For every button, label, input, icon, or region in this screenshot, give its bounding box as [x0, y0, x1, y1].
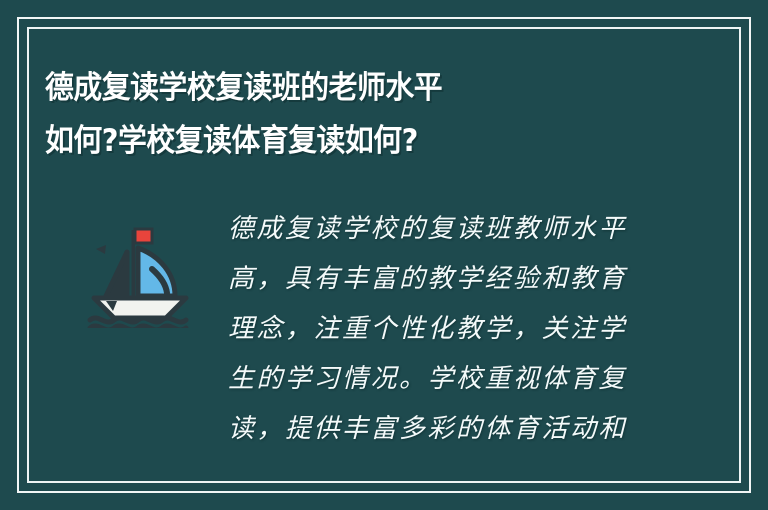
red-flag-icon — [135, 229, 152, 243]
bird-icon — [96, 245, 106, 254]
body-line: 德成复读学校的复读班教师水平 — [228, 204, 688, 254]
body-line: 生的学习情况。学校重视体育复 — [228, 354, 688, 404]
page-title: 德成复读学校复读班的老师水平 如何?学校复读体育复读如何? — [45, 62, 705, 168]
body-line: 高，具有丰富的教学经验和教育 — [228, 254, 688, 304]
body-line: 理念，注重个性化教学，关注学 — [228, 304, 688, 354]
body-line: 读，提供丰富多彩的体育活动和 — [228, 404, 688, 454]
wave-line-top — [90, 318, 186, 322]
page-title-line-2: 如何?学校复读体育复读如何? — [45, 115, 659, 168]
poster-card: 德成复读学校复读班的老师水平 如何?学校复读体育复读如何? 德成复读学 — [0, 0, 768, 510]
page-title-line-1: 德成复读学校复读班的老师水平 — [45, 62, 659, 115]
back-sail-shape — [106, 252, 127, 296]
wave-line-bottom — [90, 326, 186, 328]
sailboat-illustration — [82, 212, 198, 328]
body-paragraph: 德成复读学校的复读班教师水平 高，具有丰富的教学经验和教育 理念，注重个性化教学… — [228, 204, 688, 454]
